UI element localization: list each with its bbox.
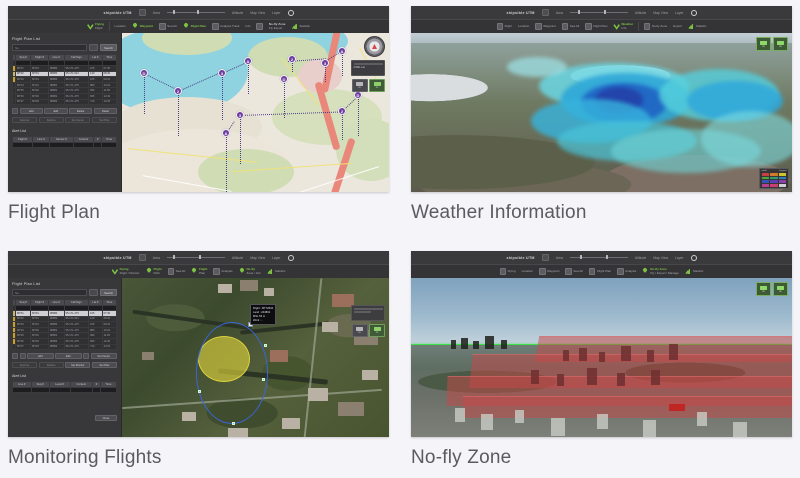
cell-seq: MT07: [16, 344, 31, 350]
title-bar: shipsible UTM Area Altitude Map View Lay…: [8, 6, 389, 19]
map-mode-buttons: 2D 3D: [756, 37, 788, 51]
toolbar-item-statistic[interactable]: Statistic: [266, 268, 287, 275]
main-toolbar: FlyingFlight / Monitor FlightPath Sea Al…: [8, 264, 389, 278]
caption-weather: Weather Information: [411, 203, 792, 222]
toolbar-item-location[interactable]: Location: [521, 270, 534, 273]
title-item-altitude[interactable]: Altitude: [635, 11, 646, 15]
app-brand: shipsible UTM: [506, 256, 534, 260]
main-toolbar: Flying Location Waypoint Sea Alt Flight …: [411, 264, 792, 278]
map-icon: [760, 41, 767, 45]
set-center-button[interactable]: Set Center: [65, 117, 90, 123]
more-button[interactable]: [83, 353, 89, 359]
toolbar-label: No-flyZone / Info: [247, 268, 261, 275]
waypoint-stem: [178, 94, 179, 136]
building: [218, 284, 232, 293]
legend-swatch: [770, 173, 778, 176]
tooltip-line-flight: Flight : MT72634: [253, 307, 273, 311]
tooltip-line-land: Land : 243831: [253, 311, 273, 315]
altitude-slider[interactable]: [570, 255, 628, 261]
topographic-map: D 2 3 A 2: [122, 33, 389, 192]
weather-icon: [613, 23, 620, 30]
title-item-mapview[interactable]: Map View: [250, 11, 265, 15]
waypoint-dot: A: [222, 129, 230, 137]
map-3d-button[interactable]: 3D: [369, 79, 385, 92]
waypoint-stem: [248, 64, 249, 94]
no-fly-zone-overlay: [463, 396, 792, 418]
sidebar-search-row: No. Search: [12, 44, 117, 51]
flight-plan-table: Seq # Flight # Line # Call Sign Lat # Ti…: [12, 299, 117, 350]
gallery-cell-monitoring: shipsible UTM Area Altitude Map View Lay…: [8, 251, 389, 467]
toolbar-item-waypoint[interactable]: Waypoint: [131, 23, 154, 30]
toolbar-item-flight-plan[interactable]: Flight Plan: [182, 23, 207, 30]
table-row[interactable]: MT07 MT03 98082 35-171-475 710 13:15: [13, 99, 117, 105]
toolbar-item-location[interactable]: Location: [517, 25, 530, 28]
zone-icon: [239, 268, 246, 275]
toolbar-divider: [638, 22, 639, 31]
altitude-icon: [565, 268, 572, 275]
map-3d-button[interactable]: 3D: [773, 282, 788, 296]
title-item-layer[interactable]: Layer: [272, 256, 280, 260]
map-3d-label: 3D: [376, 332, 379, 334]
cell-callsign: 35-171-475: [64, 99, 89, 105]
calendar-icon[interactable]: [542, 9, 549, 16]
map-2d-label: 2D: [762, 46, 765, 48]
title-item-layer[interactable]: Layer: [675, 256, 683, 260]
detail-button[interactable]: Detail: [94, 108, 117, 114]
toolbar-label: Statistic: [693, 270, 704, 273]
grid-icon: [644, 23, 651, 30]
waypoint-dot: D: [354, 91, 362, 99]
alert-list-title: Alert List: [12, 129, 117, 133]
set-plan-button[interactable]: Set Plan: [92, 117, 117, 123]
building: [264, 288, 274, 296]
gallery-cell-weather: shipsible UTM Area Altitude Map View Lay…: [411, 6, 792, 222]
title-item-area[interactable]: Area: [153, 11, 160, 15]
toolbar-label: Info: [245, 25, 250, 28]
building: [240, 280, 258, 291]
screenshot-flight-plan[interactable]: shipsible UTM Area Altitude Map View Lay…: [8, 6, 389, 192]
screenshot-monitoring-flights[interactable]: shipsible UTM Area Altitude Map View Lay…: [8, 251, 389, 437]
waypoint-dot: 3: [321, 59, 329, 67]
building: [461, 338, 468, 349]
legend-swatch: [770, 184, 778, 187]
building: [617, 373, 625, 386]
toolbar-label: Waypoint: [547, 270, 559, 273]
toolbar-label: Sea Alt: [570, 25, 580, 28]
map-3d-label: 3D: [779, 46, 782, 48]
waypoint-stem: [222, 76, 223, 120]
globe-icon: [777, 286, 784, 290]
toolbar-item-flight-plan[interactable]: Flight Plan: [588, 268, 612, 275]
set-plan-button[interactable]: Set Plan: [92, 362, 117, 368]
info-label: ASML Lat: [354, 66, 383, 70]
toolbar-item-waypoint[interactable]: Waypoint: [538, 268, 560, 275]
altitude-slider[interactable]: [570, 10, 628, 16]
waypoint-node[interactable]: [232, 422, 235, 425]
cell-line: 98082: [48, 344, 64, 350]
cell-lat: 710: [89, 99, 103, 105]
toolbar-label: Flight Plan: [593, 25, 607, 28]
route-icon: [535, 23, 542, 30]
waypoint-stem: [358, 98, 359, 136]
toolbar-item-statistic[interactable]: Statistic: [290, 23, 311, 30]
search-button[interactable]: Search: [100, 289, 117, 296]
gear-icon[interactable]: [288, 255, 294, 261]
report-icon: [212, 23, 219, 30]
toolbar-item-flying[interactable]: FlyingFlight / Monitor: [111, 268, 141, 275]
toolbar-item-export[interactable]: Export: [672, 25, 683, 28]
precipitation-cell: [507, 57, 567, 77]
flight-plan-table: Seq # Flight # Line # Call Sign Lat # Ti…: [12, 54, 117, 105]
road: [304, 278, 323, 437]
delete-row-button[interactable]: [12, 353, 18, 359]
toolbar-item-flying[interactable]: Flight: [496, 23, 513, 30]
main-toolbar: FlyingFlight Location Waypoint Sea Alt: [8, 19, 389, 33]
monitoring-sidebar: Flight Plan List No. Search Seq # Flight…: [8, 278, 122, 437]
waypoint-dot: 2: [338, 107, 346, 115]
toolbar-item-sea-alt[interactable]: Sea Alt: [564, 268, 584, 275]
building: [647, 350, 654, 362]
map-3d-label: 3D: [779, 291, 782, 293]
building: [308, 388, 328, 401]
toolbar-item-flight-plan[interactable]: FlightPlan: [190, 268, 208, 275]
toolbar-label: Export: [673, 25, 682, 28]
search-input[interactable]: No.: [12, 289, 87, 296]
waypoint-dot: D: [140, 69, 148, 77]
building: [669, 344, 678, 360]
map-icon: [356, 327, 363, 331]
sky: [411, 278, 792, 345]
map-2d-label: 2D: [358, 87, 361, 89]
building: [733, 422, 747, 437]
building: [551, 418, 565, 436]
toolbar-label: Statistic: [275, 270, 286, 273]
chart-icon: [685, 268, 692, 275]
toolbar-label: Sea Alt: [176, 270, 186, 273]
altitude-icon: [159, 23, 166, 30]
path-icon: [191, 268, 198, 275]
delete-button[interactable]: Delete: [69, 108, 92, 114]
toolbar-label: Statistic: [299, 25, 310, 28]
title-item-layer[interactable]: Layer: [675, 11, 683, 15]
map-2d-button[interactable]: 2D: [756, 282, 771, 296]
map-icon: [760, 286, 767, 290]
filter-icon[interactable]: [89, 44, 98, 51]
building: [501, 340, 507, 349]
waypoint-dot: A: [338, 47, 346, 55]
title-item-area[interactable]: Area: [556, 256, 563, 260]
toolbar-label: Analysis: [625, 270, 636, 273]
building: [485, 336, 494, 349]
waypoint-stem: [342, 54, 343, 76]
legend-swatch: [770, 177, 778, 180]
map-2d-label: 2D: [358, 332, 361, 334]
map-mode-buttons: 2D 3D: [756, 282, 788, 296]
title-item-altitude[interactable]: Altitude: [232, 256, 243, 260]
building: [451, 340, 456, 349]
sidebar-action-row-2: Approve Decline Set Center Set Plan: [12, 117, 117, 123]
delete-row-button[interactable]: [12, 108, 18, 114]
cell-seq: MT07: [16, 99, 31, 105]
toolbar-divider: [109, 22, 110, 31]
toolbar-label: FlyingFlight: [95, 23, 104, 30]
nofly-scene[interactable]: 2D 3D: [411, 278, 792, 437]
close-button[interactable]: Close: [95, 415, 117, 421]
building: [587, 368, 597, 385]
route-icon: [132, 23, 139, 30]
globe-icon: [374, 82, 381, 86]
waypoint-dot: 3: [218, 69, 226, 77]
alert-list-table: Line # Seq # Level # Content # Time: [12, 381, 117, 393]
waypoint-stem: [226, 136, 227, 192]
building: [579, 348, 587, 361]
building: [322, 322, 338, 332]
city-3d-view: 2D 3D: [411, 278, 792, 437]
globe-icon: [374, 327, 381, 331]
alert-list-table: Flight # Line # Sensor # Content # Time: [12, 136, 117, 148]
flight-plan-sidebar: Flight Plan List No. Search Seq # Flight…: [8, 33, 122, 192]
highlighted-building: [669, 404, 685, 411]
gear-icon[interactable]: [691, 255, 697, 261]
drone-icon: [500, 268, 507, 275]
decline-button[interactable]: Decline: [39, 117, 64, 123]
toolbar-item-analysis[interactable]: Analysis Track: [211, 23, 240, 30]
toolbar-item-grid[interactable]: [255, 23, 264, 30]
toolbar-item-analysis[interactable]: Analysis: [616, 268, 637, 275]
altitude-icon: [562, 23, 569, 30]
screenshot-gallery: shipsible UTM Area Altitude Map View Lay…: [0, 0, 800, 478]
map-3d-button[interactable]: 3D: [369, 324, 385, 337]
calendar-icon[interactable]: [542, 254, 549, 261]
building: [481, 414, 493, 430]
toolbar-label: Analysis Track: [220, 25, 239, 28]
toolbar-item-analysis[interactable]: Analysis: [212, 268, 233, 275]
toolbar-item-grid[interactable]: No-fly Zone: [643, 23, 669, 30]
legend-swatch: [779, 184, 787, 187]
toolbar-label: Location: [114, 25, 125, 28]
legend-swatch: [762, 177, 770, 180]
compass-icon[interactable]: [364, 36, 385, 57]
toolbar-label: No-fly ZoneFly / Export / Manage: [650, 268, 679, 275]
building: [643, 420, 656, 437]
info-bar: [354, 308, 383, 310]
toolbar-item-flight-path[interactable]: FlightPath: [144, 268, 162, 275]
title-item-altitude[interactable]: Altitude: [232, 11, 243, 15]
caption-monitoring: Monitoring Flights: [8, 448, 389, 467]
calendar-icon[interactable]: [139, 9, 146, 16]
sidebar-action-row-1: Add Edit Set Center: [12, 353, 117, 359]
toolbar-item-sea-alt[interactable]: Sea Alt: [561, 23, 581, 30]
flight-path: [196, 322, 268, 424]
weather-scene[interactable]: 2D 3D mm/h Legend: [411, 33, 792, 192]
toolbar-label: Flight Plan: [597, 270, 611, 273]
cell-flight: MT03: [31, 344, 49, 350]
info-bar: [354, 63, 383, 65]
legend-swatch: [779, 180, 787, 183]
building: [621, 346, 631, 361]
toolbar-item-sea-alt[interactable]: Sea Alt: [158, 23, 178, 30]
gear-icon[interactable]: [691, 10, 697, 16]
zone-icon: [642, 268, 649, 275]
waypoint-node[interactable]: [264, 344, 267, 347]
toolbar-item-sea-alt[interactable]: Sea Alt: [167, 268, 187, 275]
toolbar-label: FlightPath: [153, 268, 161, 275]
search-button[interactable]: Search: [100, 44, 117, 51]
legend-label: Legend: [779, 170, 786, 172]
building: [182, 412, 196, 421]
decline-button[interactable]: Decline: [39, 362, 64, 368]
satellite-scene[interactable]: Flight : MT72634 Land : 243831 MSL 53 m …: [122, 278, 389, 437]
weather-legend[interactable]: mm/h Legend: [759, 168, 789, 189]
altitude-icon: [168, 268, 175, 275]
sidebar-title: Flight Plan List: [12, 282, 117, 286]
map-view-flight-plan[interactable]: D 2 3 A 2: [122, 33, 389, 192]
legend-swatch: [762, 173, 770, 176]
altitude-slider[interactable]: [167, 255, 225, 261]
map-3d-label: 3D: [376, 87, 379, 89]
toolbar-item-waypoint[interactable]: Waypoint: [534, 23, 556, 30]
building: [597, 414, 608, 429]
add-button[interactable]: Add: [20, 108, 43, 114]
waypoint-stem: [240, 118, 241, 164]
set-center-button[interactable]: Set Center: [91, 353, 118, 359]
legend-title: mm/h Legend: [762, 170, 787, 172]
waypoint-dot: 3: [236, 111, 244, 119]
title-item-area[interactable]: Area: [153, 256, 160, 260]
title-item-layer[interactable]: Layer: [272, 11, 280, 15]
toolbar-item-flight-plan[interactable]: Flight Plan: [584, 23, 608, 30]
toolbar-label: Analysis: [221, 270, 232, 273]
toolbar-item-nofly-zone[interactable]: No-fly ZoneFly / Export / Manage: [641, 268, 680, 275]
waypoint-stem: [325, 66, 326, 82]
approve-button[interactable]: Approve: [12, 117, 37, 123]
legend-swatch: [779, 177, 787, 180]
chart-icon: [291, 23, 298, 30]
building: [515, 410, 524, 423]
toolbar-label: No-fly Zone: [652, 25, 668, 28]
table-row[interactable]: MT07 MT03 98082 35-171-475 710 13:15: [13, 344, 117, 350]
set-monitor-button[interactable]: Set Monitor: [65, 362, 90, 368]
alert-filter-row[interactable]: [13, 143, 117, 148]
toolbar-label: Waypoint: [543, 25, 555, 28]
gallery-cell-flight-plan: shipsible UTM Area Altitude Map View Lay…: [8, 6, 389, 222]
gallery-cell-nofly: shipsible UTM Area Altitude Map View Lay…: [411, 251, 792, 467]
altitude-slider[interactable]: [167, 10, 225, 16]
building: [531, 370, 539, 384]
grid-icon: [256, 23, 263, 30]
calendar-icon[interactable]: [139, 254, 146, 261]
title-item-mapview[interactable]: Map View: [250, 256, 265, 260]
toolbar-item-statistic[interactable]: Statistic: [684, 268, 705, 275]
map-2d-button[interactable]: 2D: [756, 37, 771, 51]
screenshot-nofly-zone[interactable]: shipsible UTM Area Altitude Map View Lay…: [411, 251, 792, 437]
building: [270, 350, 288, 362]
building: [455, 408, 465, 422]
map-2d-label: 2D: [762, 291, 765, 293]
filter-icon[interactable]: [89, 289, 98, 296]
title-item-mapview[interactable]: Map View: [653, 11, 668, 15]
title-item-altitude[interactable]: Altitude: [635, 256, 646, 260]
route-icon: [145, 268, 152, 275]
cell-time: 13:15: [102, 344, 116, 350]
toolbar-item-flying[interactable]: FlyingFlight: [86, 23, 105, 30]
search-input[interactable]: No.: [12, 44, 87, 51]
toolbar-item-location[interactable]: Location: [113, 25, 126, 28]
building: [651, 370, 660, 385]
waypoint-dot: D: [280, 75, 288, 83]
edit-button[interactable]: Edit: [55, 353, 82, 359]
title-item-mapview[interactable]: Map View: [653, 256, 668, 260]
app-brand: shipsible UTM: [103, 11, 131, 15]
toolbar-item-nofly-zone[interactable]: No-flyZone / Info: [238, 268, 262, 275]
toolbar-item-info[interactable]: Info: [244, 25, 251, 28]
waypoint-stem: [292, 62, 293, 72]
cell-time: 13:15: [102, 99, 116, 105]
screenshot-weather[interactable]: shipsible UTM Area Altitude Map View Lay…: [411, 6, 792, 192]
toolbar-label: Flight: [505, 25, 512, 28]
satellite-imagery: Flight : MT72634 Land : 243831 MSL 53 m …: [122, 278, 389, 437]
map-icon: [356, 82, 363, 86]
building: [557, 374, 564, 386]
toolbar-item-weather[interactable]: WeatherInfo: [612, 23, 634, 30]
chart-icon: [267, 268, 274, 275]
toolbar-label: Location: [522, 270, 533, 273]
toolbar-item-statistic[interactable]: Statistic: [687, 23, 708, 30]
approve-button[interactable]: Approve: [12, 362, 37, 368]
building: [362, 370, 378, 380]
sidebar-action-row-1: Add Edit Delete Detail: [12, 108, 117, 114]
gear-icon[interactable]: [288, 10, 294, 16]
title-bar: shipsible UTM Area Altitude Map View Lay…: [411, 251, 792, 264]
toolbar-label: WeatherInfo: [621, 23, 633, 30]
toolbar-label: Sea Alt: [167, 25, 177, 28]
tooltip-line-work: Work : -: [253, 319, 273, 323]
sidebar-search-row: No. Search: [12, 289, 117, 296]
map-2d-button[interactable]: 2D: [352, 79, 368, 92]
main-toolbar: Flight Location Waypoint Sea Alt Flight …: [411, 19, 792, 33]
legend-swatch: [762, 184, 770, 187]
waypoint-stem: [342, 114, 343, 140]
building: [563, 350, 569, 361]
path-icon: [585, 23, 592, 30]
sidebar-title: Flight Plan List: [12, 37, 117, 41]
waypoint-stem: [284, 82, 285, 118]
building: [142, 352, 154, 360]
caption-nofly: No-fly Zone: [411, 448, 792, 467]
alert-filter-row[interactable]: [13, 388, 117, 393]
refresh-button[interactable]: [20, 353, 26, 359]
toolbar-item-nofly-zone[interactable]: No-fly ZoneFly Export: [268, 23, 287, 30]
waypoint-dot: 2: [288, 55, 296, 63]
edit-button[interactable]: Edit: [44, 108, 67, 114]
path-icon: [183, 23, 190, 30]
add-button[interactable]: Add: [27, 353, 54, 359]
app-brand: shipsible UTM: [103, 256, 131, 260]
map-3d-button[interactable]: 3D: [773, 37, 788, 51]
precipitation-cell: [701, 111, 792, 167]
waypoint-stem: [144, 76, 145, 114]
drone-icon: [87, 23, 94, 30]
map-2d-button[interactable]: 2D: [352, 324, 368, 337]
toolbar-label: No-fly ZoneFly Export: [269, 23, 286, 30]
legend-swatch: [770, 180, 778, 183]
toolbar-item-flying[interactable]: Flying: [499, 268, 517, 275]
app-brand: shipsible UTM: [506, 11, 534, 15]
alert-list-title: Alert List: [12, 374, 117, 378]
title-item-area[interactable]: Area: [556, 11, 563, 15]
map-info-box: [351, 305, 385, 321]
waypoint-dot: A: [244, 57, 252, 65]
